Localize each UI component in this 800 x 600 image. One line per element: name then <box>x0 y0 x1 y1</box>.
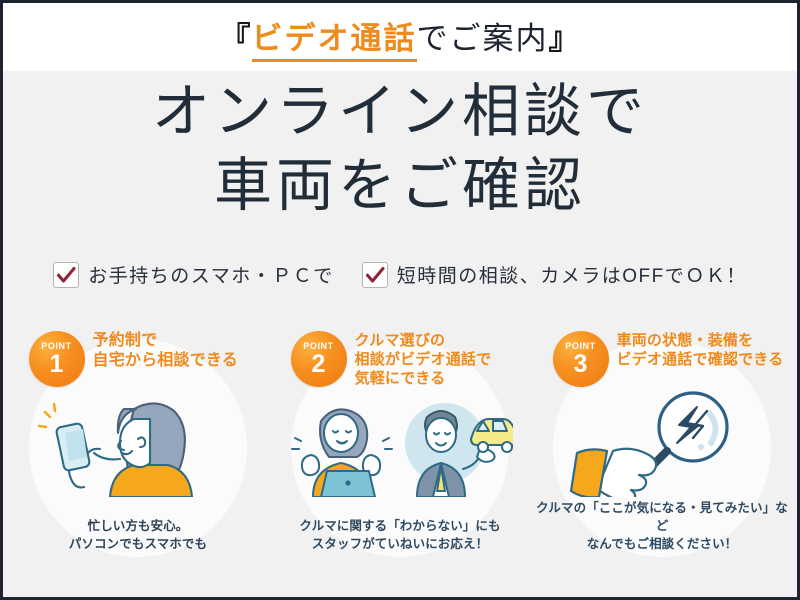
open-bracket: 『 <box>220 13 252 58</box>
check-icon <box>53 262 79 288</box>
point-card-1: POINT 1 予約制で 自宅から相談できる <box>11 321 266 561</box>
point-card-list: POINT 1 予約制で 自宅から相談できる <box>3 321 797 571</box>
point-caption-1: 忙しい方も安心。 パソコンでもスマホでも <box>11 517 266 553</box>
hand-holding-magnifier-illustration <box>535 387 790 497</box>
point-badge-3: POINT 3 <box>553 331 609 387</box>
close-bracket: 』 <box>549 13 581 58</box>
title-line-1: オンライン相談で <box>3 75 797 149</box>
promo-banner: 『ビデオ通話でご案内』 オンライン相談で 車両をご確認 お手持ちのスマホ・ＰＣで… <box>0 0 800 600</box>
point-badge-number: 1 <box>50 352 64 377</box>
point-caption-3: クルマの「ここが気になる・見てみたい」など なんでもご相談ください！ <box>535 499 790 553</box>
woman-at-laptop-and-staff-with-car-illustration <box>273 387 528 497</box>
point-caption-2: クルマに関する「わからない」にも スタッフがていねいにお応え！ <box>273 517 528 553</box>
feature-check-label: 短時間の相談、カメラはOFFでＯＫ！ <box>397 261 747 288</box>
point-heading-3: 車両の状態・装備を ビデオ通話で確認できる <box>617 331 788 369</box>
point-card-3: POINT 3 車両の状態・装備を ビデオ通話で確認できる <box>535 321 790 561</box>
point-heading-2: クルマ選びの 相談がビデオ通話で 気軽にできる <box>355 331 526 389</box>
point-badge-number: 3 <box>574 352 588 377</box>
header-text: 『ビデオ通話でご案内』 <box>220 13 581 62</box>
woman-with-smartphone-illustration <box>11 387 266 497</box>
title-line-2: 車両をご確認 <box>3 149 797 223</box>
feature-check-item: お手持ちのスマホ・ＰＣで <box>53 261 333 288</box>
feature-check-label: お手持ちのスマホ・ＰＣで <box>88 261 333 288</box>
feature-check-item: 短時間の相談、カメラはOFFでＯＫ！ <box>362 261 747 288</box>
point-heading-1: 予約制で 自宅から相談できる <box>93 331 264 372</box>
feature-check-row: お手持ちのスマホ・ＰＣで 短時間の相談、カメラはOFFでＯＫ！ <box>3 261 797 288</box>
header-band: 『ビデオ通話でご案内』 <box>3 3 797 71</box>
check-icon <box>362 262 388 288</box>
header-highlight: ビデオ通話 <box>252 13 417 62</box>
header-rest: でご案内 <box>417 13 549 58</box>
point-badge-number: 2 <box>312 352 326 377</box>
point-badge-1: POINT 1 <box>29 331 85 387</box>
point-card-2: POINT 2 クルマ選びの 相談がビデオ通話で 気軽にできる <box>273 321 528 561</box>
point-badge-2: POINT 2 <box>291 331 347 387</box>
page-title: オンライン相談で 車両をご確認 <box>3 75 797 223</box>
